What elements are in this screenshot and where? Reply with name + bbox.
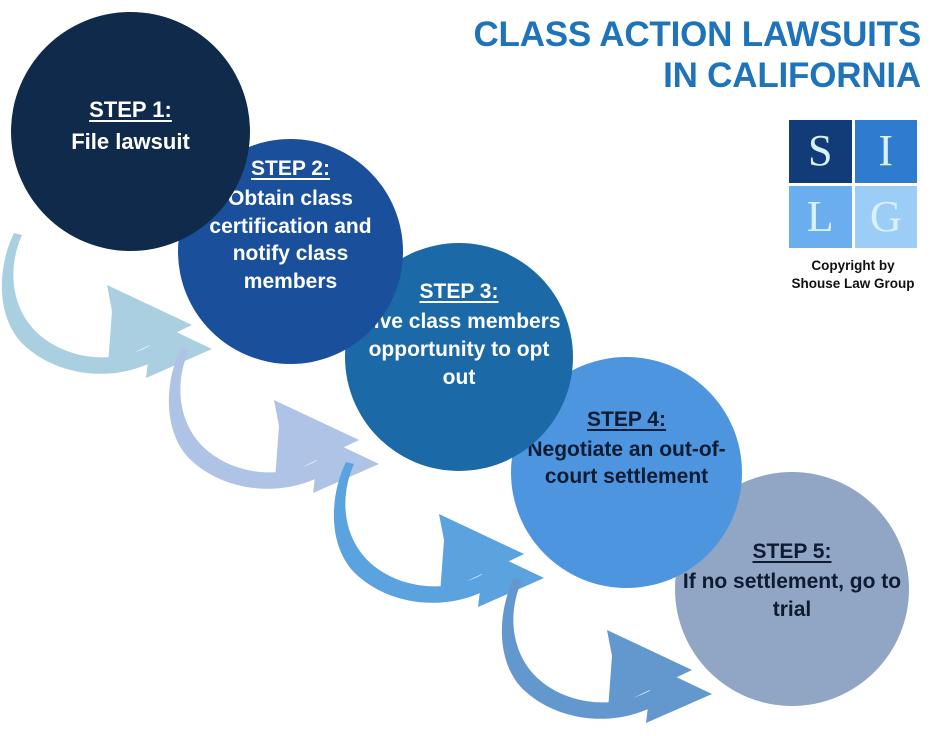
logo-letter-s: S: [808, 129, 832, 173]
logo-letter-l: L: [807, 195, 834, 239]
logo-cell-l: L: [789, 186, 852, 249]
logo-letter-g: G: [870, 195, 902, 239]
page-title-line-2: IN CALIFORNIA: [361, 55, 921, 96]
logo-grid: S I L G: [789, 120, 917, 248]
copyright-line-1: Copyright by: [779, 257, 927, 275]
logo-cell-g: G: [855, 186, 918, 249]
step-1-content: STEP 1: File lawsuit: [11, 95, 250, 157]
step-3-text: Give class members opportunity to opt ou…: [351, 308, 567, 392]
logo-cell-s: S: [789, 120, 852, 183]
step-1-label: STEP 1:: [17, 95, 244, 125]
shouse-law-group-logo: S I L G Copyright by Shouse Law Group: [779, 120, 927, 293]
step-1-text: File lawsuit: [17, 127, 244, 157]
step-4-text: Negotiate an out-of-court settlement: [517, 436, 736, 492]
step-circle-1[interactable]: STEP 1: File lawsuit: [11, 12, 250, 251]
infographic-canvas: CLASS ACTION LAWSUITS IN CALIFORNIA S I …: [0, 0, 935, 736]
copyright-notice: Copyright by Shouse Law Group: [779, 257, 927, 293]
page-title: CLASS ACTION LAWSUITS IN CALIFORNIA: [361, 14, 921, 97]
page-title-line-1: CLASS ACTION LAWSUITS: [361, 14, 921, 55]
logo-cell-i: I: [855, 120, 918, 183]
copyright-line-2: Shouse Law Group: [779, 275, 927, 293]
step-5-text: If no settlement, go to trial: [681, 568, 903, 624]
logo-letter-i: I: [878, 129, 893, 173]
